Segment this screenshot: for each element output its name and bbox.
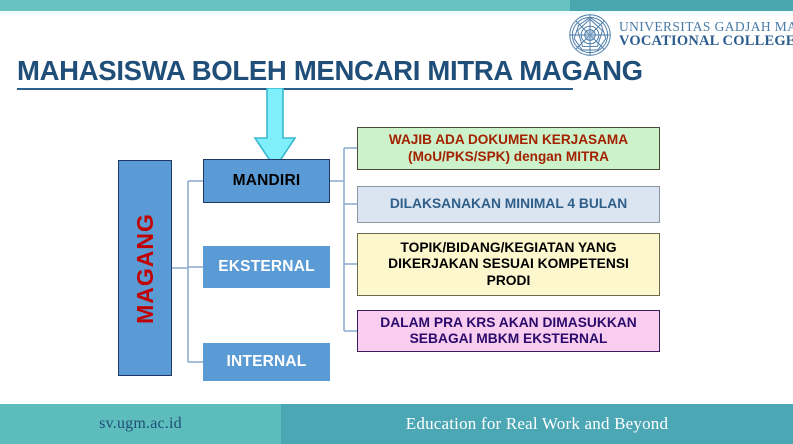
requirement-box-prakrs[interactable]: DALAM PRA KRS AKAN DIMASUKKAN SEBAGAI MB… — [357, 310, 660, 352]
down-arrow-icon — [253, 88, 297, 170]
footer-tagline-label: Education for Real Work and Beyond — [406, 414, 668, 434]
ugm-seal-icon — [568, 13, 612, 57]
requirement-text: TOPIK/BIDANG/KEGIATAN YANG DIKERJAKAN SE… — [388, 240, 629, 289]
requirement-text: WAJIB ADA DOKUMEN KERJASAMA (MoU/PKS/SPK… — [389, 132, 628, 164]
requirement-text: DALAM PRA KRS AKAN DIMASUKKAN SEBAGAI MB… — [380, 315, 637, 348]
brand-text: UNIVERSITAS GADJAH MADA VOCATIONAL COLLE… — [619, 20, 793, 50]
node-eksternal[interactable]: EKSTERNAL — [203, 246, 330, 288]
footer-site-bar: sv.ugm.ac.id — [0, 404, 281, 444]
requirement-box-kompetensi[interactable]: TOPIK/BIDANG/KEGIATAN YANG DIKERJAKAN SE… — [357, 233, 660, 296]
node-magang-label: MAGANG — [132, 213, 159, 324]
page-title: MAHASISWA BOLEH MENCARI MITRA MAGANG — [17, 55, 617, 87]
slide-canvas: UNIVERSITAS GADJAH MADA VOCATIONAL COLLE… — [0, 0, 793, 444]
requirement-text: DILAKSANAKAN MINIMAL 4 BULAN — [390, 196, 627, 212]
top-bar-right — [570, 0, 793, 11]
requirement-box-durasi[interactable]: DILAKSANAKAN MINIMAL 4 BULAN — [357, 186, 660, 223]
node-magang[interactable]: MAGANG — [118, 160, 172, 376]
top-bar-left — [0, 0, 570, 11]
brand-logo: UNIVERSITAS GADJAH MADA VOCATIONAL COLLE… — [568, 13, 788, 57]
requirement-box-kerjasama[interactable]: WAJIB ADA DOKUMEN KERJASAMA (MoU/PKS/SPK… — [357, 127, 660, 170]
node-mandiri[interactable]: MANDIRI — [203, 159, 330, 203]
brand-line-1: UNIVERSITAS GADJAH MADA — [619, 20, 793, 35]
brand-line-2: VOCATIONAL COLLEGE — [619, 34, 793, 50]
footer-tagline-bar: Education for Real Work and Beyond — [281, 404, 793, 444]
footer-site-label: sv.ugm.ac.id — [99, 415, 182, 433]
node-internal[interactable]: INTERNAL — [203, 343, 330, 381]
